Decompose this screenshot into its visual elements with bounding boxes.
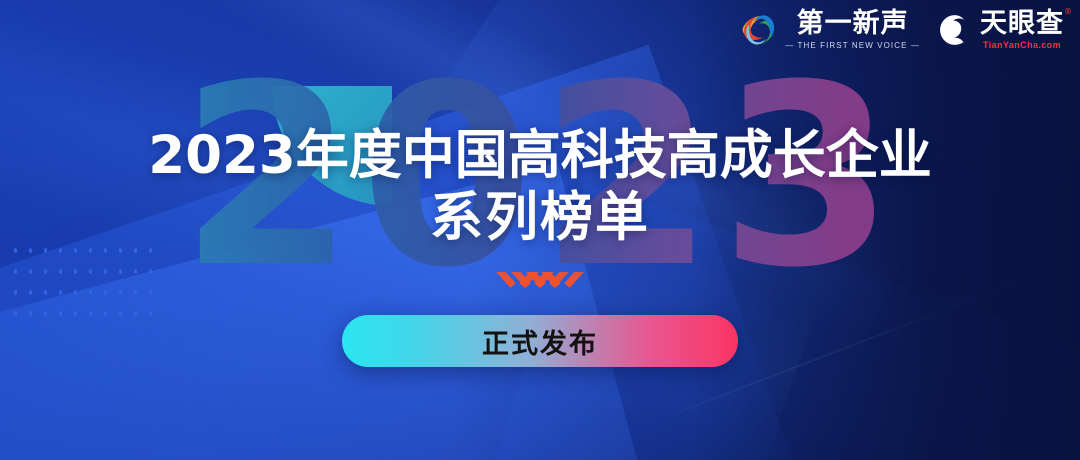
logo-name-cn: 第一新声 [797,10,909,37]
logo-diyixinsheng[interactable]: 第一新声 — THE FIRST NEW VOICE — [739,10,920,50]
eye-lens-icon [938,13,972,47]
chevron-line-left [410,272,516,288]
trademark-symbol: ® [1064,8,1073,16]
tianyancha-text: 天眼查® TianYanCha.com [980,10,1064,50]
logo-domain: TianYanCha.com [983,40,1061,50]
diyixinsheng-text: 第一新声 — THE FIRST NEW VOICE — [785,10,920,50]
chevron-line-right [564,272,670,288]
title-line-2: 系列榜单 [0,190,1080,246]
poster-canvas: 2023 2023年度中国高科技高成长企业 系列榜单 正式发布 第一新声 — T… [0,0,1080,460]
chevron-line-left [425,272,531,288]
logo-tianyancha[interactable]: 天眼查® TianYanCha.com [938,10,1064,50]
logo-tagline-en: — THE FIRST NEW VOICE — [785,41,920,50]
logo-name-cn-text: 天眼查 [980,8,1064,39]
logo-bar: 第一新声 — THE FIRST NEW VOICE — 天眼查® TianYa… [739,10,1064,50]
publish-button[interactable]: 正式发布 [342,315,738,367]
title-line-1: 2023年度中国高科技高成长企业 [0,128,1080,184]
page-title: 2023年度中国高科技高成长企业 系列榜单 [0,128,1080,246]
logo-name-cn: 天眼查® [980,10,1064,37]
swirl-ribbon-icon [739,11,777,49]
chevron-line-right [549,272,655,288]
